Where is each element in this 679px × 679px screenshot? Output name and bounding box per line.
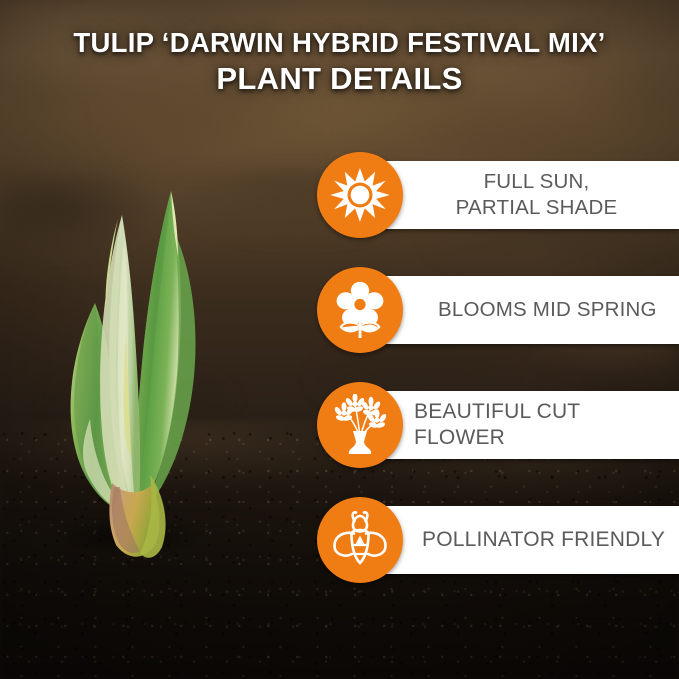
sun-icon: [317, 152, 403, 238]
feature-bar: BLOOMS MID SPRING: [360, 276, 679, 344]
feature-bar: POLLINATOR FRIENDLY: [360, 506, 679, 574]
flower-icon: [317, 267, 403, 353]
feature-bar: BEAUTIFUL CUT FLOWER: [360, 391, 679, 459]
bee-icon: [317, 497, 403, 583]
feature-label: POLLINATOR FRIENDLY: [360, 527, 679, 553]
feature-label: FULL SUN, PARTIAL SHADE: [360, 169, 679, 220]
page-title: TULIP ‘DARWIN HYBRID FESTIVAL MIX’ PLANT…: [0, 28, 679, 99]
feature-label: BEAUTIFUL CUT FLOWER: [360, 399, 679, 452]
feature-row-cut-flower: BEAUTIFUL CUT FLOWER: [317, 382, 679, 468]
feature-bar: FULL SUN, PARTIAL SHADE: [360, 161, 679, 229]
feature-row-sun-exposure: FULL SUN, PARTIAL SHADE: [317, 152, 679, 238]
tulip-sprout-image: [38, 183, 228, 563]
feature-label: BLOOMS MID SPRING: [360, 297, 679, 323]
title-line-cultivar: TULIP ‘DARWIN HYBRID FESTIVAL MIX’: [0, 28, 679, 58]
title-line-subtitle: PLANT DETAILS: [0, 60, 679, 99]
feature-row-bloom-time: BLOOMS MID SPRING: [317, 267, 679, 353]
feature-row-pollinator: POLLINATOR FRIENDLY: [317, 497, 679, 583]
product-info-graphic: TULIP ‘DARWIN HYBRID FESTIVAL MIX’ PLANT…: [0, 0, 679, 679]
flower-vase-icon: [317, 382, 403, 468]
